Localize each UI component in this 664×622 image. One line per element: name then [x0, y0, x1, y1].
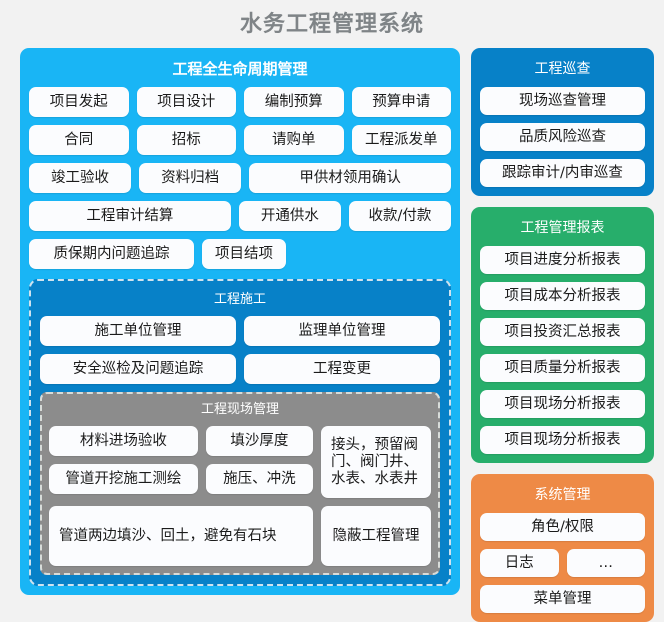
- system-row-log: 日志 …: [480, 549, 645, 577]
- field-row-1: 材料进场验收 填沙厚度: [49, 426, 313, 456]
- lifecycle-row-1: 项目发起 项目设计 编制预算 预算申请: [29, 87, 451, 117]
- left-column: 工程全生命周期管理 项目发起 项目设计 编制预算 预算申请 合同 招标 请购单 …: [20, 48, 460, 595]
- system-panel-title: 系统管理: [480, 482, 645, 513]
- app-root: 水务工程管理系统 工程全生命周期管理 项目发起 项目设计 编制预算 预算申请 合…: [0, 0, 664, 617]
- tile-quality-risk-inspection[interactable]: 品质风险巡查: [480, 123, 645, 151]
- tile-contract[interactable]: 合同: [29, 125, 129, 155]
- system-panel: 系统管理 角色/权限 日志 … 菜单管理: [471, 474, 654, 622]
- tile-project-initiation[interactable]: 项目发起: [29, 87, 129, 117]
- reports-panel: 工程管理报表 项目进度分析报表 项目成本分析报表 项目投资汇总报表 项目质量分析…: [471, 207, 654, 463]
- construction-row-2: 安全巡检及问题追踪 工程变更: [40, 354, 440, 384]
- tile-work-dispatch-order[interactable]: 工程派发单: [352, 125, 452, 155]
- tile-warranty-issue-tracking[interactable]: 质保期内问题追踪: [29, 239, 194, 269]
- tile-quality-analysis-report[interactable]: 项目质量分析报表: [480, 354, 645, 382]
- tile-purchase-request[interactable]: 请购单: [244, 125, 344, 155]
- tile-bidding[interactable]: 招标: [137, 125, 237, 155]
- reports-panel-title: 工程管理报表: [480, 215, 645, 246]
- reports-items: 项目进度分析报表 项目成本分析报表 项目投资汇总报表 项目质量分析报表 项目现场…: [480, 246, 645, 454]
- tile-completion-acceptance[interactable]: 竣工验收: [29, 163, 131, 193]
- page-title: 水务工程管理系统: [0, 0, 664, 40]
- construction-row-1: 施工单位管理 监理单位管理: [40, 316, 440, 346]
- tile-supervision-unit-management[interactable]: 监理单位管理: [244, 316, 440, 346]
- tile-site-analysis-report-1[interactable]: 项目现场分析报表: [480, 390, 645, 418]
- tile-owner-supplied-material-confirmation[interactable]: 甲供材领用确认: [249, 163, 451, 193]
- tile-menu-management[interactable]: 菜单管理: [480, 585, 645, 613]
- construction-panel-title: 工程施工: [40, 289, 440, 316]
- lifecycle-row-4: 工程审计结算 开通供水 收款/付款: [29, 201, 451, 231]
- tile-investment-summary-report[interactable]: 项目投资汇总报表: [480, 318, 645, 346]
- inspection-items: 现场巡查管理 品质风险巡查 跟踪审计/内审巡查: [480, 87, 645, 187]
- field-bottom-left: 管道两边填沙、回土，避免有石块: [49, 506, 313, 566]
- tile-budget-preparation[interactable]: 编制预算: [244, 87, 344, 117]
- tile-engineering-audit-settlement[interactable]: 工程审计结算: [29, 201, 231, 231]
- tile-site-analysis-report-2[interactable]: 项目现场分析报表: [480, 426, 645, 454]
- tile-follow-up-internal-audit-inspection[interactable]: 跟踪审计/内审巡查: [480, 159, 645, 187]
- tile-material-acceptance[interactable]: 材料进场验收: [49, 426, 198, 456]
- field-left-column: 材料进场验收 填沙厚度 管道开挖施工测绘 施压、冲洗: [49, 426, 313, 498]
- field-grid-top: 材料进场验收 填沙厚度 管道开挖施工测绘 施压、冲洗 接头，预留阀门、阀门井、水…: [49, 426, 431, 498]
- tile-safety-inspection-issue-tracking[interactable]: 安全巡检及问题追踪: [40, 354, 236, 384]
- field-bottom-right: 隐蔽工程管理: [321, 506, 431, 566]
- tile-log[interactable]: 日志: [480, 549, 559, 577]
- lifecycle-panel: 工程全生命周期管理 项目发起 项目设计 编制预算 预算申请 合同 招标 请购单 …: [20, 48, 460, 595]
- tile-pipeline-backfill[interactable]: 管道两边填沙、回土，避免有石块: [49, 506, 313, 566]
- lifecycle-row-5-spacer: [294, 239, 451, 269]
- tile-cost-analysis-report[interactable]: 项目成本分析报表: [480, 282, 645, 310]
- inspection-panel: 工程巡查 现场巡查管理 品质风险巡查 跟踪审计/内审巡查: [471, 48, 654, 196]
- tile-pipeline-excavation-survey[interactable]: 管道开挖施工测绘: [49, 464, 198, 494]
- tile-role-permission[interactable]: 角色/权限: [480, 513, 645, 541]
- tile-water-supply-activation[interactable]: 开通供水: [239, 201, 341, 231]
- inspection-panel-title: 工程巡查: [480, 56, 645, 87]
- field-management-panel: 工程现场管理 材料进场验收 填沙厚度 管道开挖施工测绘 施压、冲洗: [40, 392, 440, 575]
- tile-more[interactable]: …: [567, 549, 646, 577]
- field-grid-bottom: 管道两边填沙、回土，避免有石块 隐蔽工程管理: [49, 506, 431, 566]
- tile-concealed-works-management[interactable]: 隐蔽工程管理: [321, 506, 431, 566]
- field-right-column: 接头，预留阀门、阀门井、水表、水表井: [321, 426, 431, 498]
- tile-progress-analysis-report[interactable]: 项目进度分析报表: [480, 246, 645, 274]
- lifecycle-row-5: 质保期内问题追踪 项目结项: [29, 239, 451, 269]
- field-row-2: 管道开挖施工测绘 施压、冲洗: [49, 464, 313, 494]
- lifecycle-panel-title: 工程全生命周期管理: [29, 56, 451, 87]
- field-management-panel-title: 工程现场管理: [49, 399, 431, 426]
- tile-receipt-payment[interactable]: 收款/付款: [349, 201, 451, 231]
- construction-panel: 工程施工 施工单位管理 监理单位管理 安全巡检及问题追踪 工程变更 工程现场管理: [29, 279, 451, 586]
- lifecycle-row-2: 合同 招标 请购单 工程派发单: [29, 125, 451, 155]
- tile-sand-fill-thickness[interactable]: 填沙厚度: [206, 426, 313, 456]
- tile-joints-valves-meters[interactable]: 接头，预留阀门、阀门井、水表、水表井: [321, 426, 431, 498]
- tile-project-closure[interactable]: 项目结项: [202, 239, 286, 269]
- tile-engineering-change[interactable]: 工程变更: [244, 354, 440, 384]
- tile-pressure-test-flush[interactable]: 施压、冲洗: [206, 464, 313, 494]
- system-items: 角色/权限 日志 … 菜单管理: [480, 513, 645, 613]
- tile-document-archiving[interactable]: 资料归档: [139, 163, 241, 193]
- right-column: 工程巡查 现场巡查管理 品质风险巡查 跟踪审计/内审巡查 工程管理报表 项目进度…: [471, 48, 654, 622]
- lifecycle-row-3: 竣工验收 资料归档 甲供材领用确认: [29, 163, 451, 193]
- tile-budget-application[interactable]: 预算申请: [352, 87, 452, 117]
- main-columns: 工程全生命周期管理 项目发起 项目设计 编制预算 预算申请 合同 招标 请购单 …: [0, 40, 664, 622]
- tile-contractor-management[interactable]: 施工单位管理: [40, 316, 236, 346]
- tile-project-design[interactable]: 项目设计: [137, 87, 237, 117]
- tile-site-inspection-management[interactable]: 现场巡查管理: [480, 87, 645, 115]
